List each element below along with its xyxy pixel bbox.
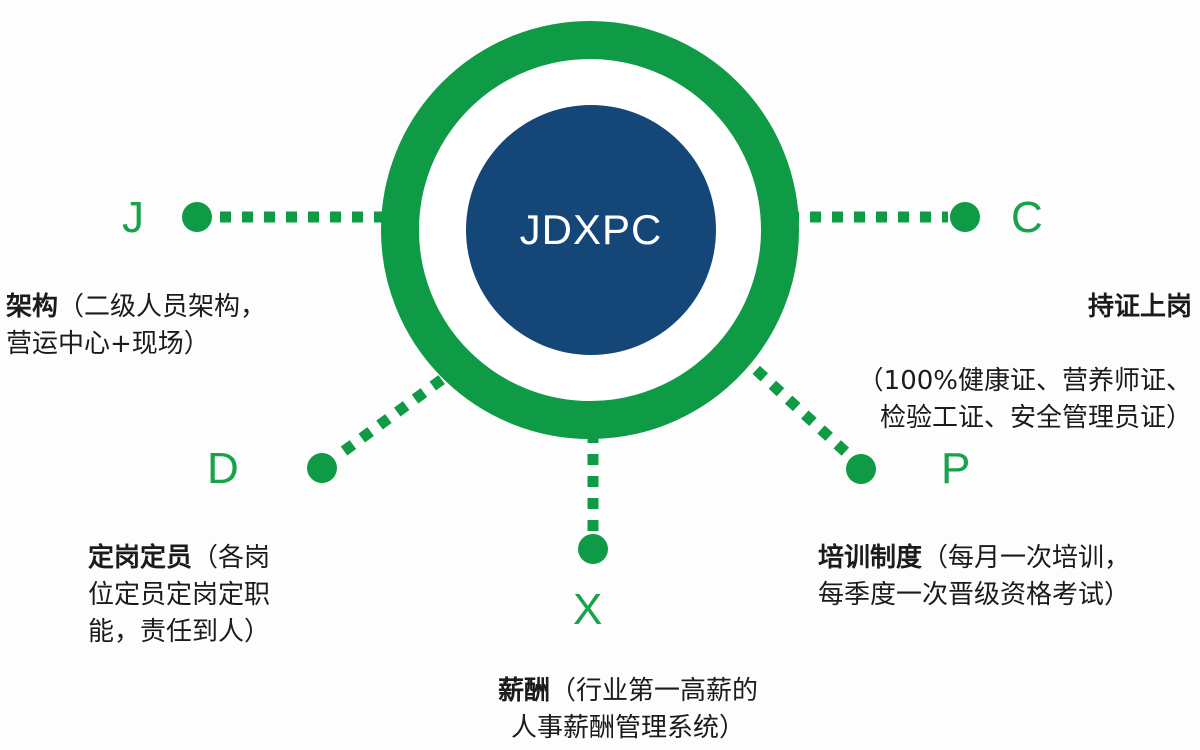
node-text-c: 持证上岗 （100%健康证、营养师证、 检验工证、安全管理员证）	[832, 252, 1192, 473]
node-letter-c: C	[1011, 196, 1043, 240]
node-dot-d[interactable]	[307, 453, 337, 483]
connector-line-d	[344, 372, 452, 451]
node-letter-d: D	[207, 447, 239, 491]
node-text-x: 薪酬（行业第一高薪的 人事薪酬管理系统）	[463, 636, 793, 747]
center-label: JDXPC	[520, 206, 663, 254]
node-title-d: 定岗定员	[88, 543, 192, 573]
center-circle: JDXPC	[466, 105, 716, 355]
diagram-canvas: JDXPC J 架构（二级人员架构， 营运中心+现场） C 持证上岗 （100%…	[0, 0, 1200, 750]
node-text-j: 架构（二级人员架构， 营运中心+现场）	[6, 252, 306, 363]
node-title-x: 薪酬	[498, 676, 550, 706]
node-text-p: 培训制度（每月一次培训， 每季度一次晋级资格考试）	[818, 503, 1196, 614]
node-title-j: 架构	[6, 292, 58, 322]
node-title-c: 持证上岗	[1088, 292, 1192, 322]
node-title-p: 培训制度	[818, 543, 922, 573]
node-letter-j: J	[122, 196, 144, 240]
node-dot-j[interactable]	[182, 202, 212, 232]
node-letter-p: P	[941, 447, 970, 491]
node-dot-x[interactable]	[578, 534, 608, 564]
node-detail-c: （100%健康证、营养师证、 检验工证、安全管理员证）	[832, 363, 1192, 437]
node-dot-c[interactable]	[950, 202, 980, 232]
node-text-d: 定岗定员（各岗 位定员定岗定职 能，责任到人）	[88, 503, 320, 651]
node-dot-p[interactable]	[846, 454, 876, 484]
node-letter-x: X	[573, 588, 602, 632]
